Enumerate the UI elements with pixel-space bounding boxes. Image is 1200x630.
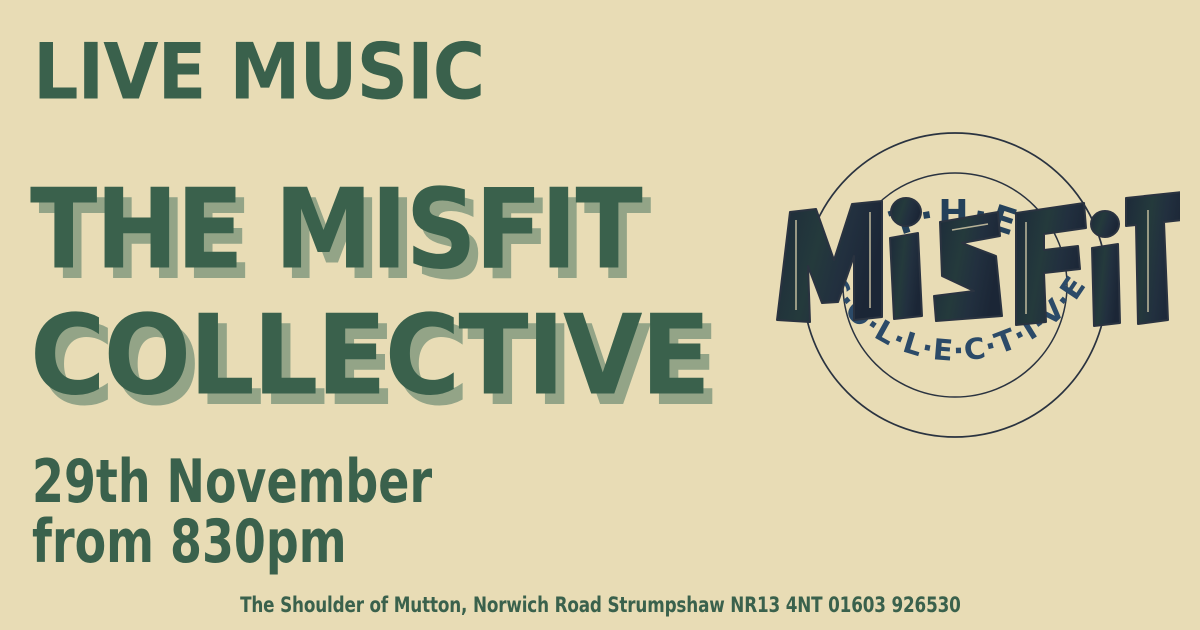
event-date: 29th November [32,452,432,512]
venue-address-text: The Shoulder of Mutton, Norwich Road Str… [240,592,961,618]
headline-block: THE MISFIT COLLECTIVE [30,168,650,410]
poster-canvas: LIVE MUSIC THE MISFIT COLLECTIVE 29th No… [0,0,1200,630]
headline-line-1: THE MISFIT [30,168,619,291]
misfit-collective-logo: T·H·E C·O·L·L·E·C·T·I·V·E [730,70,1180,490]
venue-address-line: The Shoulder of Mutton, Norwich Road Str… [0,592,1200,618]
event-date-block: 29th November from 830pm [32,452,432,573]
poster-text-column: LIVE MUSIC THE MISFIT COLLECTIVE 29th No… [0,0,660,630]
headline-line-2: COLLECTIVE [30,294,644,417]
kicker-live-music: LIVE MUSIC [33,33,484,111]
event-time: from 830pm [32,512,432,572]
